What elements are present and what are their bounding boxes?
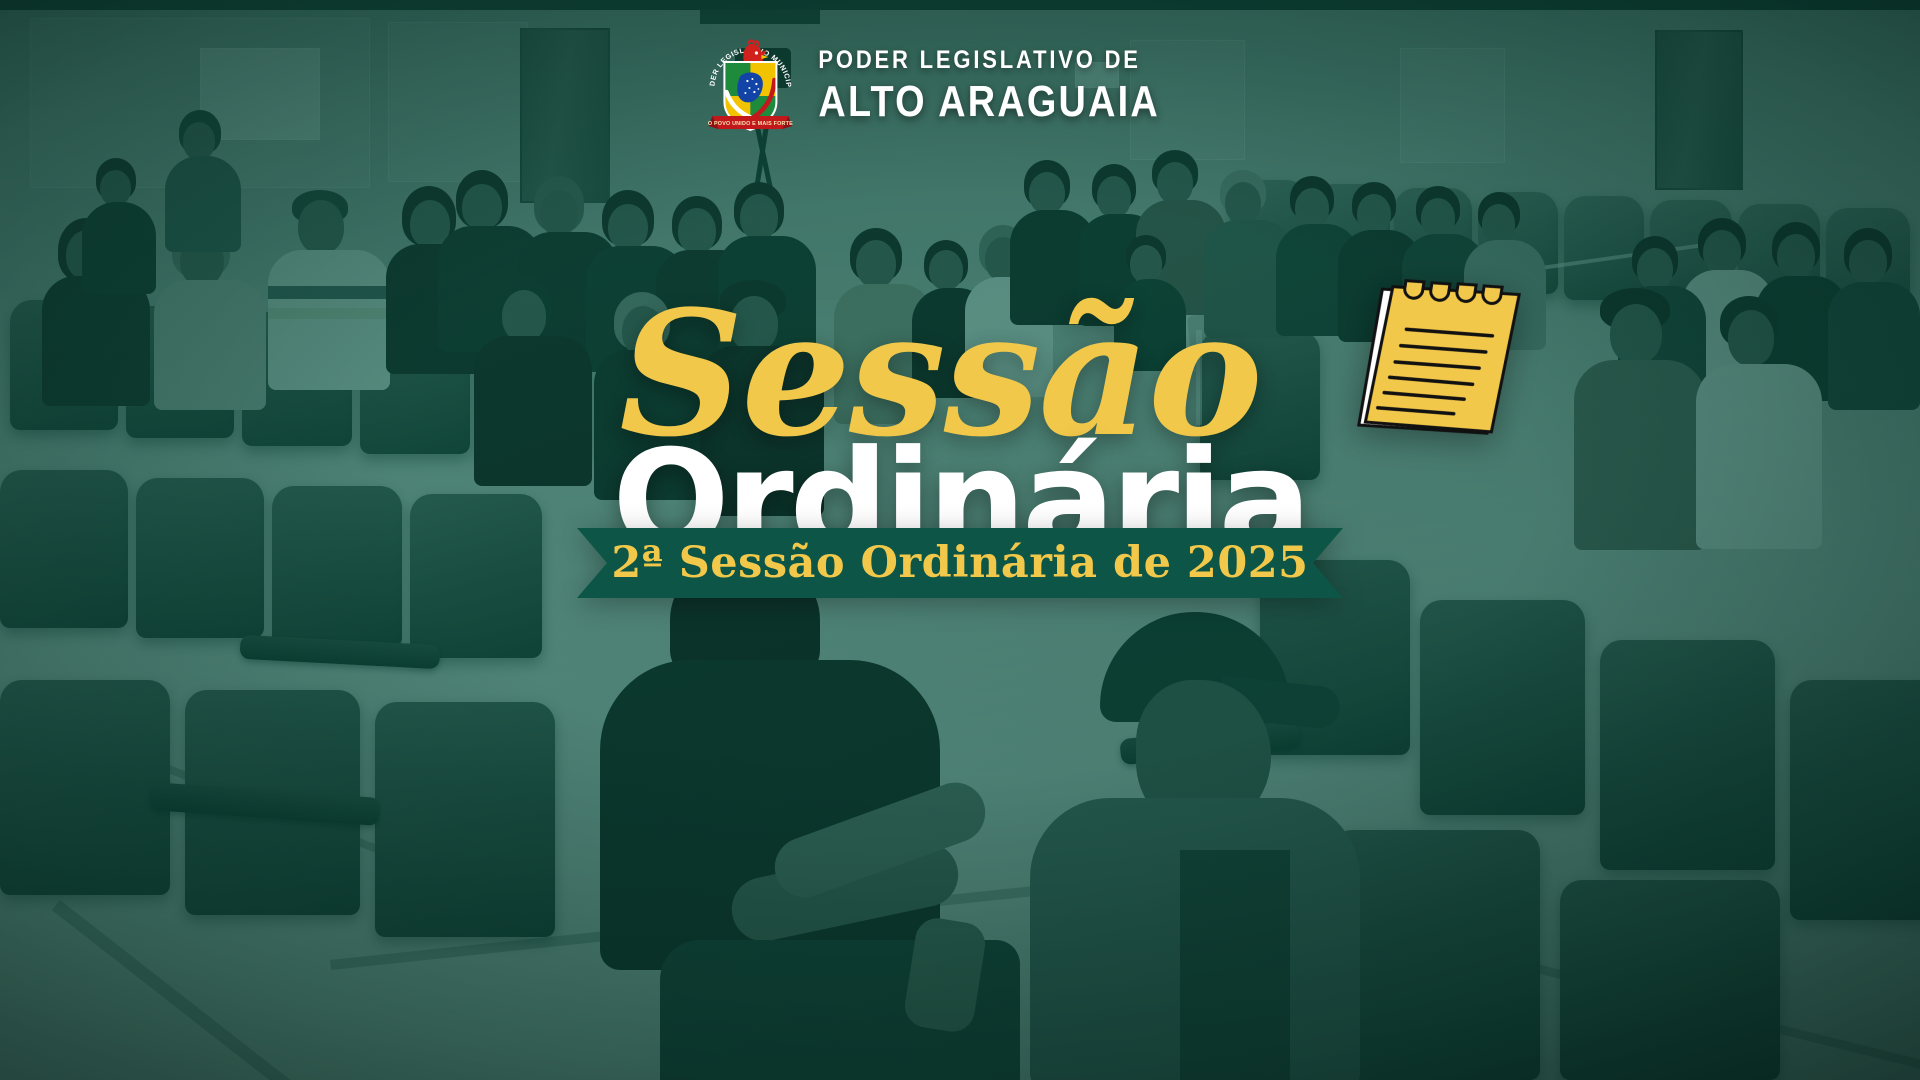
coat-of-arms-shield-icon: PODER LEGISLATIVO MUNICIPAL — [704, 36, 796, 136]
org-line-1: PODER LEGISLATIVO DE — [818, 48, 1168, 73]
org-line-2: ALTO ARAGUAIA — [818, 80, 1160, 124]
organization-name: PODER LEGISLATIVO DE ALTO ARAGUAIA — [818, 48, 1215, 124]
session-banner-graphic: PODER LEGISLATIVO MUNICIPAL — [0, 0, 1920, 1080]
ribbon-label: 2ª Sessão Ordinária de 2025 — [577, 528, 1343, 598]
event-title-block: Sessão — [480, 300, 1440, 565]
notepad-icon — [1337, 260, 1530, 459]
institution-lockup: PODER LEGISLATIVO MUNICIPAL — [704, 36, 1215, 136]
session-subtitle-ribbon: 2ª Sessão Ordinária de 2025 — [577, 528, 1343, 598]
svg-text:O POVO UNIDO E MAIS FORTE: O POVO UNIDO E MAIS FORTE — [708, 121, 793, 127]
